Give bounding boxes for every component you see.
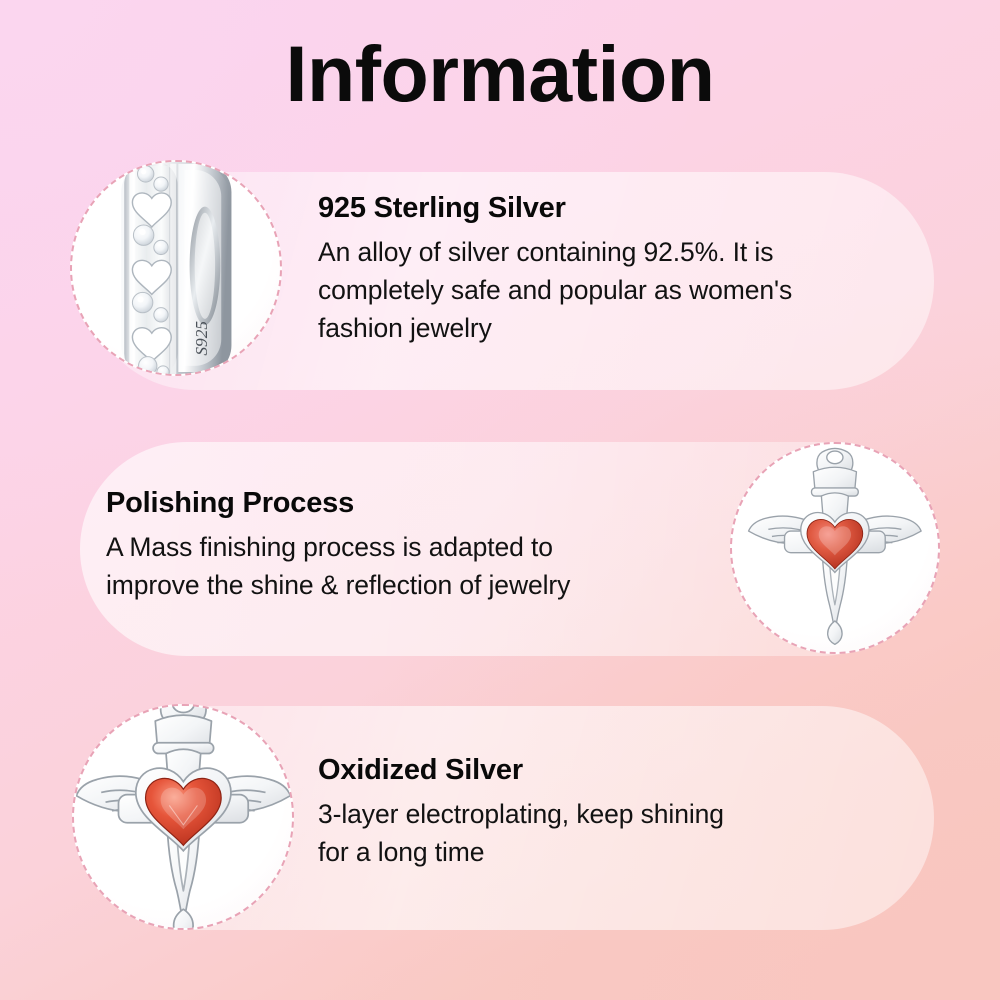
heading-oxidized-silver: Oxidized Silver <box>318 754 918 787</box>
body-sterling-silver: An alloy of silver containing 92.5%. It … <box>318 234 918 347</box>
body-line: completely safe and popular as women's <box>318 272 918 310</box>
red-heart-gemstone <box>801 512 869 572</box>
angel-wing-cross-charm-icon <box>736 442 934 654</box>
photo-angel-wing-cross-charm-closeup <box>72 704 294 930</box>
photo-silver-clip-spacer-charm: S925 <box>70 160 282 376</box>
text-block-polishing-process: Polishing Process A Mass finishing proce… <box>106 487 706 605</box>
body-line: 3-layer electroplating, keep shining <box>318 796 918 834</box>
heading-sterling-silver: 925 Sterling Silver <box>318 192 918 225</box>
body-line: improve the shine & reflection of jewelr… <box>106 567 706 605</box>
body-line: An alloy of silver containing 92.5%. It … <box>318 234 918 272</box>
s925-stamp-text: S925 <box>192 321 211 356</box>
red-heart-gemstone <box>135 768 230 851</box>
angel-wing-cross-charm-closeup-icon <box>72 704 294 930</box>
text-block-oxidized-silver: Oxidized Silver 3-layer electroplating, … <box>318 754 918 872</box>
information-panel: Information <box>0 0 1000 1000</box>
body-line: for a long time <box>318 834 918 872</box>
photo-angel-wing-cross-charm <box>730 442 940 654</box>
body-oxidized-silver: 3-layer electroplating, keep shining for… <box>318 796 918 871</box>
silver-clip-spacer-charm-icon: S925 <box>70 160 282 376</box>
body-polishing-process: A Mass finishing process is adapted to i… <box>106 529 706 604</box>
page-title: Information <box>0 34 1000 113</box>
body-line: fashion jewelry <box>318 310 918 348</box>
body-line: A Mass finishing process is adapted to <box>106 529 706 567</box>
heading-polishing-process: Polishing Process <box>106 487 706 520</box>
text-block-sterling-silver: 925 Sterling Silver An alloy of silver c… <box>318 192 918 347</box>
